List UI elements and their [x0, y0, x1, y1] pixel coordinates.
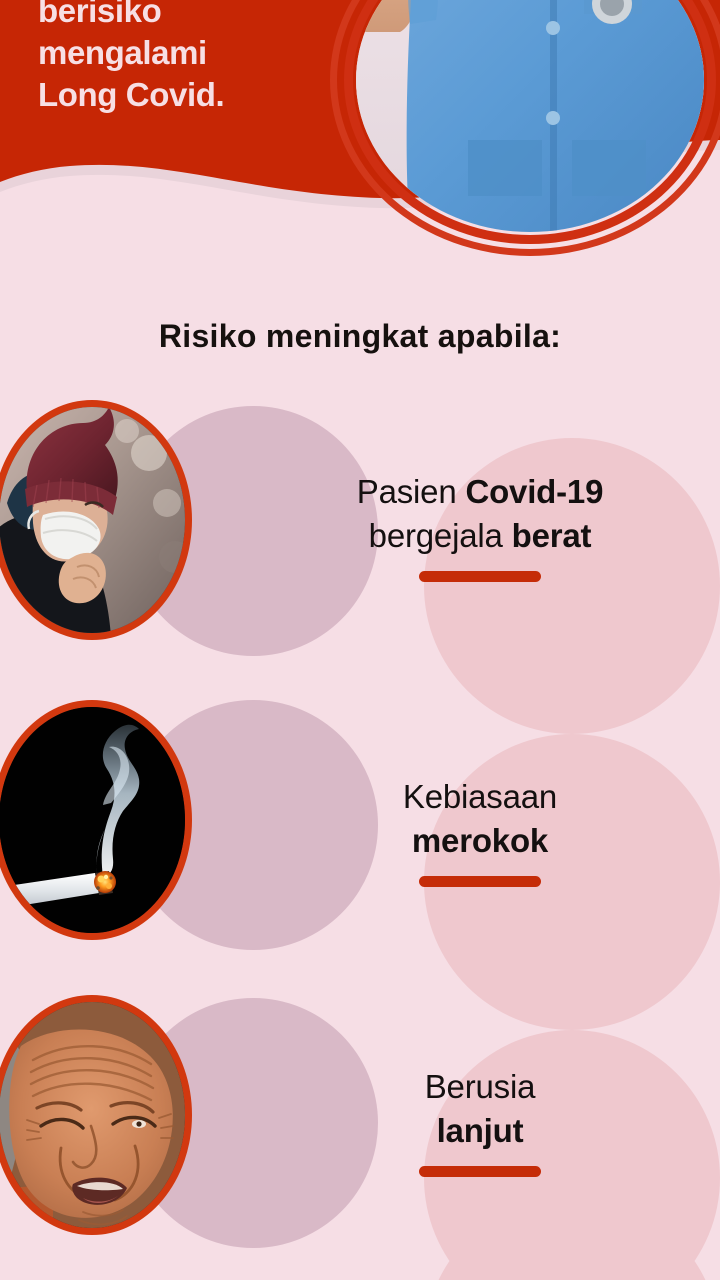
risk-2-line-1: Kebiasaan — [300, 775, 660, 819]
risk-3-line-1: Berusia — [300, 1065, 660, 1109]
section-heading: Risiko meningkat apabila: — [0, 318, 720, 355]
risk-text-1: Pasien Covid-19 bergejala berat — [300, 470, 660, 582]
risk-3-line-2-bold: lanjut — [437, 1112, 524, 1149]
risk-2-line-2: merokok — [300, 819, 660, 863]
risk-text-3: Berusia lanjut — [300, 1065, 660, 1177]
risk-3-underline — [419, 1166, 541, 1177]
risk-3-line-1-plain: Berusia — [425, 1068, 536, 1105]
header-line-2: mengalami — [38, 32, 338, 74]
risk-2-line-1-plain: Kebiasaan — [403, 778, 557, 815]
risk-photo-cigarette — [0, 700, 192, 940]
risk-2-underline — [419, 876, 541, 887]
header-line-3: Long Covid. — [38, 74, 338, 116]
header-text: berisiko mengalami Long Covid. — [38, 0, 338, 117]
risk-3-line-2: lanjut — [300, 1109, 660, 1153]
risk-1-line-1: Pasien Covid-19 — [300, 470, 660, 514]
risk-photo-elderly-person — [0, 995, 192, 1235]
risk-2-line-2-bold: merokok — [412, 822, 548, 859]
header-line-1: berisiko — [38, 0, 338, 32]
nurse-photo-circle — [330, 0, 720, 256]
risk-1-line-1-bold: Covid-19 — [465, 473, 603, 510]
risk-1-line-1-plain: Pasien — [357, 473, 466, 510]
infographic-poster: berisiko mengalami Long Covid. — [0, 0, 720, 1280]
risk-text-2: Kebiasaan merokok — [300, 775, 660, 887]
risk-1-line-2: bergejala berat — [300, 514, 660, 558]
risk-1-line-2-bold: berat — [512, 517, 592, 554]
risk-1-line-2-plain: bergejala — [369, 517, 512, 554]
risk-1-underline — [419, 571, 541, 582]
decorative-circle-bottom — [424, 1196, 720, 1280]
risk-photo-coughing-person — [0, 400, 192, 640]
